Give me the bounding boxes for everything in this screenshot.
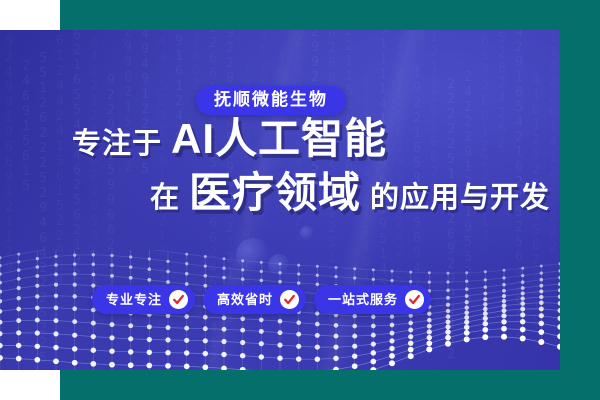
feature-pill-label: 高效省时 (217, 293, 273, 306)
headline-line-2: 在 医疗领域 的应用与开发 (0, 172, 560, 214)
ai-medical-promo-banner: 9 2 4 9 9 1 9 6 6 9 1 2 1 1 2 9 2 4 6 9 … (0, 0, 600, 400)
frame-band-top (60, 0, 600, 30)
check-icon (405, 290, 424, 309)
check-icon (280, 290, 299, 309)
headline-line-1: 专注于 AI人工智能 (0, 118, 560, 160)
feature-pill[interactable]: 一站式服务 (314, 285, 431, 314)
feature-pill[interactable]: 专业专注 (92, 285, 195, 314)
banner-stage: 9 2 4 9 9 1 9 6 6 9 1 2 1 1 2 9 2 4 6 9 … (0, 30, 560, 370)
headline-line1-emphasis: AI人工智能 (171, 118, 387, 160)
check-icon (169, 290, 188, 309)
frame-band-right (560, 0, 600, 400)
headline-line1-prefix: 专注于 (72, 130, 162, 159)
digit-column: 1 4 1 9 2 6 6 2 (189, 30, 203, 93)
headline-line2-prefix: 在 (150, 184, 180, 213)
bokeh-circle (300, 226, 314, 240)
feature-pill[interactable]: 高效省时 (203, 285, 306, 314)
brand-badge[interactable]: 抚顺微能生物 (196, 86, 346, 115)
brand-badge-label: 抚顺微能生物 (214, 91, 328, 108)
feature-pill-list: 专业专注高效省时一站式服务 (92, 285, 431, 314)
headline-line2-suffix: 的应用与开发 (370, 184, 550, 213)
frame-band-bottom (60, 370, 600, 400)
headline-block: 专注于 AI人工智能 在 医疗领域 的应用与开发 (0, 118, 560, 214)
headline-line2-emphasis: 医疗领域 (189, 172, 361, 214)
feature-pill-label: 一站式服务 (328, 293, 398, 306)
bokeh-circle (268, 254, 290, 276)
bokeh-circle (236, 238, 270, 272)
feature-pill-label: 专业专注 (106, 293, 162, 306)
